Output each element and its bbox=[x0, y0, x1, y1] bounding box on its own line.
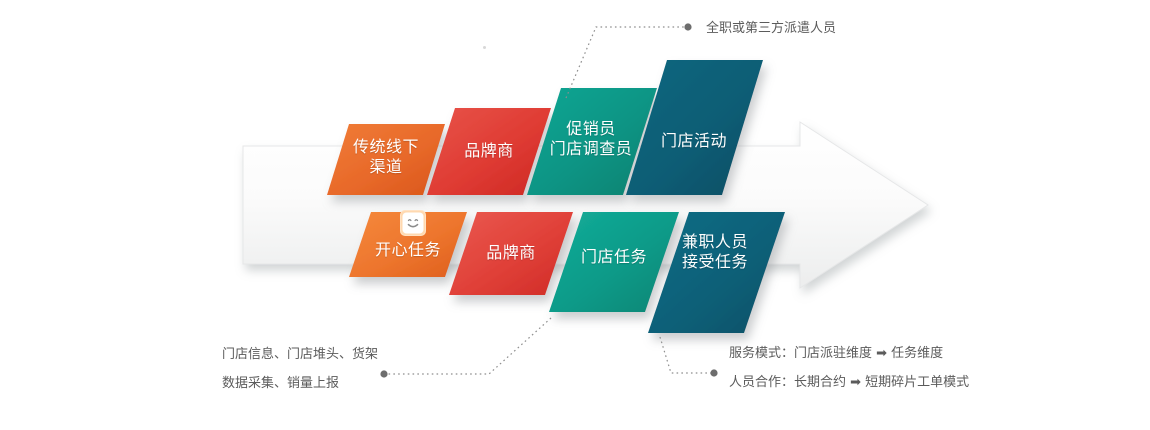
connector-dot-bottom-left bbox=[380, 370, 387, 377]
connector-dot-top-right bbox=[684, 23, 691, 30]
annotation-bottom-right-line1: 服务模式：门店派驻维度 ➡ 任务维度 bbox=[729, 341, 943, 366]
annotation-top-right: 全职或第三方派遣人员 bbox=[706, 16, 836, 41]
smiley-icon-glyph bbox=[400, 210, 426, 236]
stray-speck bbox=[483, 46, 486, 49]
annotation-bottom-left-line1: 门店信息、门店堆头、货架 bbox=[222, 342, 378, 367]
diagram-graphics bbox=[0, 0, 1150, 430]
smiley-icon bbox=[400, 210, 426, 236]
connector-bottom-right bbox=[660, 337, 712, 373]
annotation-bottom-left-line2: 数据采集、销量上报 bbox=[222, 371, 339, 396]
diagram-canvas: 传统线下 渠道 品牌商 促销员 门店调查员 门店活动 开心任务 品牌商 门店任务… bbox=[0, 0, 1150, 430]
top-row-shapes bbox=[327, 60, 763, 195]
connector-dot-bottom-right bbox=[710, 369, 717, 376]
connector-bottom-left bbox=[386, 318, 551, 374]
annotation-bottom-right-line2: 人员合作：长期合约 ➡ 短期碎片工单模式 bbox=[729, 370, 969, 395]
